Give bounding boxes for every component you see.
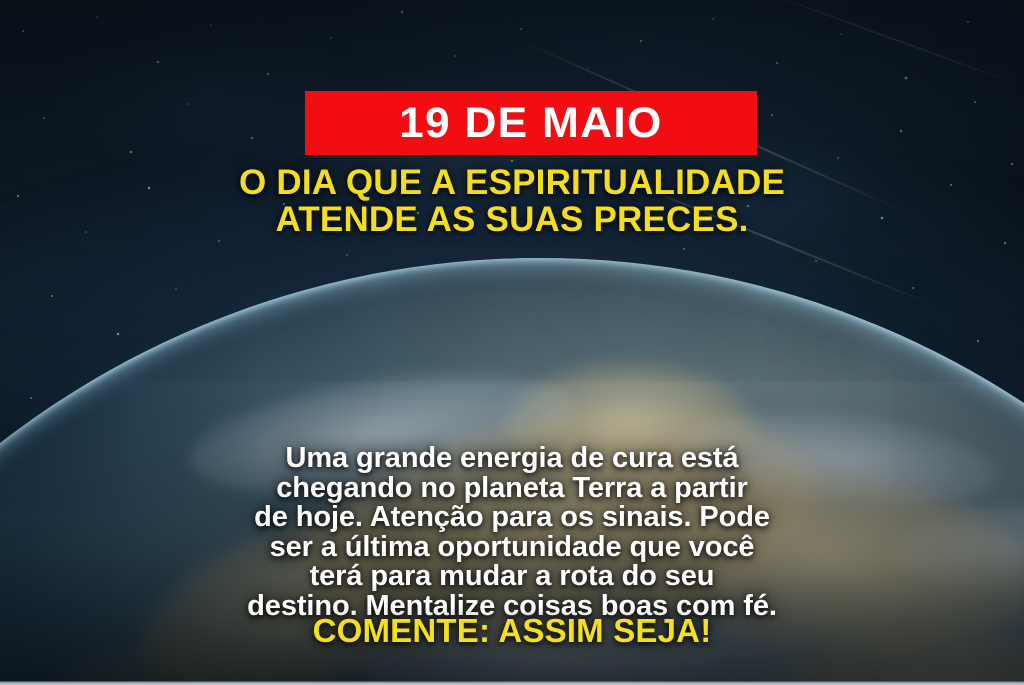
body-line-5: terá para mudar a rota do seu (72, 562, 952, 592)
headline-line-2: ATENDE AS SUAS PRECES. (0, 201, 1024, 238)
body-line-2: chegando no planeta Terra a partir (72, 474, 952, 504)
body-copy: Uma grande energia de cura está chegando… (72, 444, 952, 621)
date-badge: 19 DE MAIO (305, 91, 757, 155)
body-line-3: de hoje. Atenção para os sinais. Pode (72, 503, 952, 533)
date-badge-label: 19 DE MAIO (399, 102, 662, 145)
call-to-action-label: COMENTE: ASSIM SEJA! (0, 613, 1024, 649)
body-line-1: Uma grande energia de cura está (72, 444, 952, 474)
text-overlay: 19 DE MAIO O DIA QUE A ESPIRITUALIDADE A… (0, 0, 1024, 685)
body-line-4: ser a última oportunidade que você (72, 533, 952, 563)
poster-canvas: 19 DE MAIO O DIA QUE A ESPIRITUALIDADE A… (0, 0, 1024, 685)
headline-line-1: O DIA QUE A ESPIRITUALIDADE (0, 164, 1024, 201)
headline: O DIA QUE A ESPIRITUALIDADE ATENDE AS SU… (0, 164, 1024, 238)
